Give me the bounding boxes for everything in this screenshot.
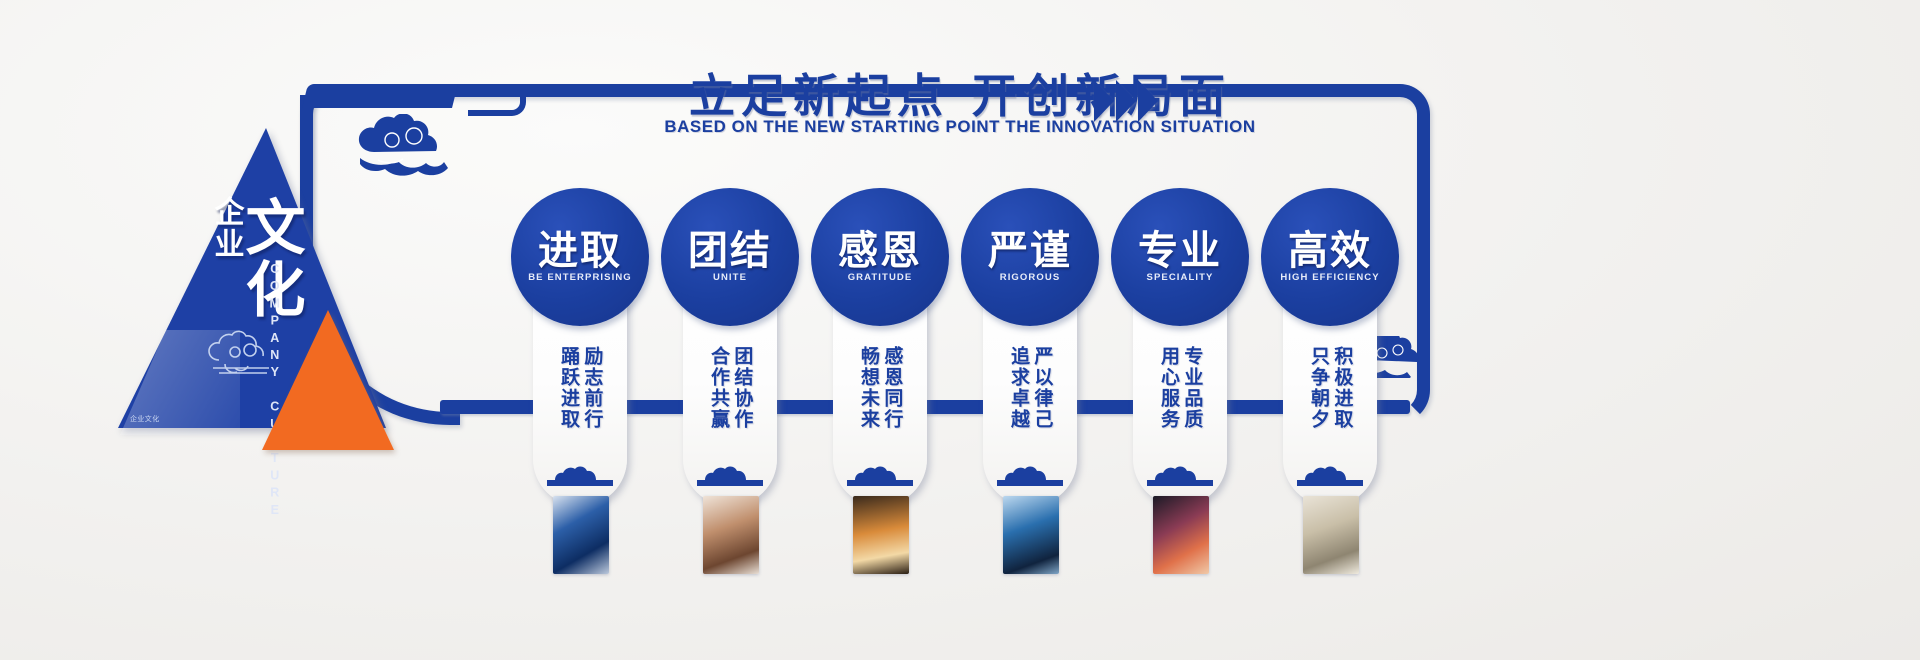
photo-violin: [1153, 496, 1209, 574]
value-badge-en: RIGOROUS: [961, 272, 1099, 283]
value-phrase-left: 追求卓越: [1009, 346, 1028, 456]
value-badge-cn: 专业: [1111, 218, 1249, 276]
value-badge[interactable]: 团结UNITE: [661, 188, 799, 326]
value-phrase-right: 感恩同行: [882, 346, 901, 456]
value-phrase-left: 畅想未来: [859, 346, 878, 456]
value-phrase-right: 团结协作: [732, 346, 751, 456]
value-badge[interactable]: 感恩GRATITUDE: [811, 188, 949, 326]
value-card[interactable]: 严谨RIGOROUS严以律己追求卓越: [983, 196, 1077, 506]
cloud-shape-icon: [1147, 464, 1213, 486]
orange-triangle-icon: [262, 310, 394, 450]
value-badge-en: HIGH EFFICIENCY: [1261, 272, 1399, 283]
chevron-right-icon-1: [1094, 80, 1114, 122]
photo-pocket-watch: [1303, 496, 1359, 574]
value-badge-cn: 进取: [511, 218, 649, 276]
cloud-shape-icon: [697, 464, 763, 486]
value-phrases: 积极进取只争朝夕: [1283, 346, 1377, 456]
value-card[interactable]: 专业SPECIALITY专业品质用心服务: [1133, 196, 1227, 506]
value-phrase-left: 用心服务: [1159, 346, 1178, 456]
cloud-shape-icon: [997, 464, 1063, 486]
page-title: 立足新起点 开创新局面: [650, 60, 1270, 126]
cloud-shape-icon: [697, 464, 763, 486]
value-badge-cn: 高效: [1261, 218, 1399, 276]
frame-top-tab: [302, 84, 458, 108]
value-phrase-right: 严以律己: [1032, 346, 1051, 456]
value-badge-en: UNITE: [661, 272, 799, 283]
value-card[interactable]: 高效HIGH EFFICIENCY积极进取只争朝夕: [1283, 196, 1377, 506]
value-phrase-right: 励志前行: [582, 346, 601, 456]
photo-eagle: [1003, 496, 1059, 574]
value-card[interactable]: 团结UNITE团结协作合作共赢: [683, 196, 777, 506]
value-badge-cn: 严谨: [961, 218, 1099, 276]
logo-corner-badge: 企业文化: [130, 414, 160, 424]
value-badge-en: SPECIALITY: [1111, 272, 1249, 283]
value-phrases: 感恩同行畅想未来: [833, 346, 927, 456]
culture-wall: 企业 文化 COMPANY CULTURE 企业文化 立足新起: [0, 0, 1920, 660]
chevron-right-icon-3: [1138, 80, 1158, 122]
frame-hook-icon: [468, 92, 526, 116]
value-badge[interactable]: 专业SPECIALITY: [1111, 188, 1249, 326]
value-phrases: 专业品质用心服务: [1133, 346, 1227, 456]
photo-handshake: [703, 496, 759, 574]
value-phrase-left: 合作共赢: [709, 346, 728, 456]
cloud-shape-icon: [847, 464, 913, 486]
cloud-shape-icon: [547, 464, 613, 486]
value-phrases: 严以律己追求卓越: [983, 346, 1077, 456]
page-subtitle: BASED ON THE NEW STARTING POINT THE INNO…: [644, 118, 1276, 137]
value-card[interactable]: 感恩GRATITUDE感恩同行畅想未来: [833, 196, 927, 506]
photo-climbing-ice: [553, 496, 609, 574]
photo-helping-hand: [853, 496, 909, 574]
value-badge[interactable]: 严谨RIGOROUS: [961, 188, 1099, 326]
cloud-shape-icon: [847, 464, 913, 486]
chevron-right-icon-2: [1116, 80, 1136, 122]
header-block: 立足新起点 开创新局面 BASED ON THE NEW STARTING PO…: [650, 60, 1270, 160]
value-badge-cn: 感恩: [811, 218, 949, 276]
cloud-shape-icon: [997, 464, 1063, 486]
value-phrases: 励志前行踊跃进取: [533, 346, 627, 456]
value-phrase-right: 专业品质: [1182, 346, 1201, 456]
value-phrase-left: 踊跃进取: [559, 346, 578, 456]
value-phrases: 团结协作合作共赢: [683, 346, 777, 456]
cloud-shape-icon: [547, 464, 613, 486]
cloud-shape-icon: [1297, 464, 1363, 486]
cloud-shape-icon: [1147, 464, 1213, 486]
value-card[interactable]: 进取BE ENTERPRISING励志前行踊跃进取: [533, 196, 627, 506]
auspicious-cloud-icon-top: [352, 114, 462, 176]
value-phrase-right: 积极进取: [1332, 346, 1351, 456]
value-phrase-left: 只争朝夕: [1309, 346, 1328, 456]
value-badge-en: BE ENTERPRISING: [511, 272, 649, 283]
value-badge[interactable]: 进取BE ENTERPRISING: [511, 188, 649, 326]
value-badge-cn: 团结: [661, 218, 799, 276]
value-badge-en: GRATITUDE: [811, 272, 949, 283]
cloud-shape-icon: [1297, 464, 1363, 486]
value-badge[interactable]: 高效HIGH EFFICIENCY: [1261, 188, 1399, 326]
